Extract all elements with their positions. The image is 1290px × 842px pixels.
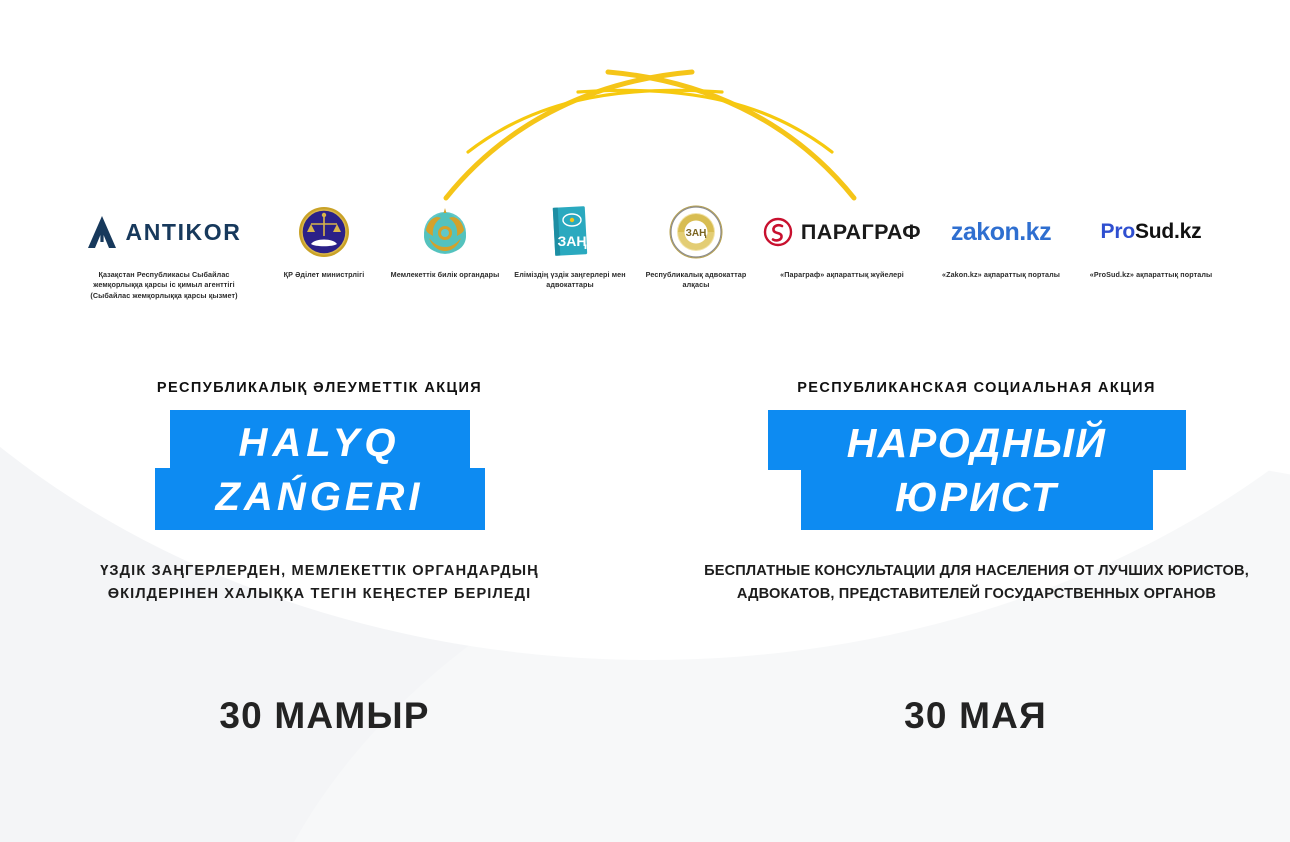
minjust-caption: ҚР Әділет министрлігі: [284, 270, 365, 280]
bar-association-caption: Республикалық адвокаттар алқасы: [634, 270, 758, 291]
prosud-wordmark-pro: Pro: [1101, 220, 1135, 243]
zakon-kz-wordmark-icon: zakon.kz: [951, 206, 1051, 258]
subtitle-kazakh: ҮЗДІК ЗАҢГЕРЛЕРДЕН, МЕМЛЕКЕТТІК ОРГАНДАР…: [100, 560, 539, 605]
svg-text:ЗАҢ: ЗАҢ: [558, 233, 587, 249]
partner-lawyers: ЗАҢ Еліміздің үздік заңгерлері мен адвок…: [506, 206, 634, 291]
prosud-kz-caption: «ProSud.kz» ақпараттық порталы: [1090, 270, 1212, 280]
eyebrow-kazakh: РЕСПУБЛИКАЛЫҚ ӘЛЕУМЕТТІК АКЦИЯ: [157, 380, 482, 396]
svg-text:ЗАҢ: ЗАҢ: [686, 228, 707, 239]
campaign-columns: РЕСПУБЛИКАЛЫҚ ӘЛЕУМЕТТІК АКЦИЯ HALYQ ZAŃ…: [0, 380, 1290, 640]
antikor-triangle-icon: [87, 215, 117, 249]
zakon-kz-caption: «Zakon.kz» ақпараттық порталы: [942, 270, 1060, 280]
gold-arcs-ornament-icon: [440, 58, 860, 208]
zakon-kz-wordmark: zakon.kz: [951, 218, 1051, 247]
state-emblem-svg: [418, 206, 472, 258]
partner-antikor: ANTIKOR Қазақстан Республикасы Сыбайлас …: [64, 206, 264, 301]
antikor-wordmark: ANTIKOR: [126, 219, 242, 246]
date-row: 30 МАМЫР 30 МАЯ: [0, 686, 1290, 746]
date-russian: 30 МАЯ: [904, 695, 1047, 737]
subtitle-russian: БЕСПЛАТНЫЕ КОНСУЛЬТАЦИИ ДЛЯ НАСЕЛЕНИЯ ОТ…: [704, 560, 1249, 605]
justice-emblem-svg: [298, 206, 350, 258]
brandblock-kz-line2: ZAŃGERI: [155, 468, 485, 530]
paragraf-caption: «Параграф» ақпараттық жүйелері: [780, 270, 904, 280]
antikor-a-mark-icon: ANTIKOR: [87, 206, 242, 258]
justice-scales-emblem-icon: [298, 206, 350, 258]
antikor-caption: Қазақстан Республикасы Сыбайлас жемқорлы…: [79, 270, 249, 301]
subtitle-kz-line2: ӨКІЛДЕРІНЕН ХАЛЫҚҚА ТЕГІН КЕҢЕСТЕР БЕРІЛ…: [100, 583, 539, 606]
subtitle-ru-line1: БЕСПЛАТНЫЕ КОНСУЛЬТАЦИИ ДЛЯ НАСЕЛЕНИЯ ОТ…: [704, 560, 1249, 583]
poster-root: ANTIKOR Қазақстан Республикасы Сыбайлас …: [0, 0, 1290, 842]
column-russian: РЕСПУБЛИКАНСКАЯ СОЦИАЛЬНАЯ АКЦИЯ НАРОДНЫ…: [633, 380, 1290, 640]
paragraf-wordmark: ПАРАГРАФ: [801, 220, 921, 245]
brandblock-ru-line1: НАРОДНЫЙ: [768, 410, 1186, 470]
partner-logo-strip: ANTIKOR Қазақстан Республикасы Сыбайлас …: [0, 206, 1290, 321]
partner-bar-association: ЗАҢ Республикалық адвокаттар алқасы: [634, 206, 758, 291]
paragraf-circle-svg: [763, 217, 793, 247]
kazakhstan-state-emblem-icon: [418, 206, 472, 258]
subtitle-kz-line1: ҮЗДІК ЗАҢГЕРЛЕРДЕН, МЕМЛЕКЕТТІК ОРГАНДАР…: [100, 560, 539, 583]
gov-bodies-caption: Мемлекеттік билік органдары: [391, 270, 500, 280]
date-cell-russian: 30 МАЯ: [639, 686, 1290, 746]
brandblock-kz-line1: HALYQ: [170, 410, 470, 470]
prosud-wordmark-sud: Sud.kz: [1135, 220, 1201, 243]
law-book-svg: ЗАҢ: [549, 205, 591, 259]
partner-gov-bodies: Мемлекеттік билік органдары: [384, 206, 506, 280]
partner-minjust: ҚР Әділет министрлігі: [264, 206, 384, 280]
brandblock-ru-line2: ЮРИСТ: [801, 468, 1153, 530]
partner-zakon-kz: zakon.kz «Zakon.kz» ақпараттық порталы: [926, 206, 1076, 280]
partner-paragraf: ПАРАГРАФ «Параграф» ақпараттық жүйелері: [758, 206, 926, 280]
brandblock-russian: НАРОДНЫЙ ЮРИСТ: [768, 410, 1186, 530]
subtitle-ru-line2: АДВОКАТОВ, ПРЕДСТАВИТЕЛЕЙ ГОСУДАРСТВЕННЫ…: [704, 583, 1249, 606]
column-kazakh: РЕСПУБЛИКАЛЫҚ ӘЛЕУМЕТТІК АКЦИЯ HALYQ ZAŃ…: [0, 380, 633, 640]
paragraf-s-circle-icon: ПАРАГРАФ: [763, 206, 921, 258]
zan-bar-association-seal-icon: ЗАҢ: [669, 206, 723, 258]
eyebrow-russian: РЕСПУБЛИКАНСКАЯ СОЦИАЛЬНАЯ АКЦИЯ: [797, 380, 1156, 396]
lawyers-caption: Еліміздің үздік заңгерлері мен адвокатта…: [506, 270, 634, 291]
date-kazakh: 30 МАМЫР: [219, 695, 429, 737]
brandblock-kazakh: HALYQ ZAŃGERI: [155, 410, 485, 530]
date-cell-kazakh: 30 МАМЫР: [0, 686, 639, 746]
prosud-kz-wordmark-icon: ProSud.kz: [1101, 206, 1202, 258]
zan-law-book-icon: ЗАҢ: [549, 206, 591, 258]
partner-prosud-kz: ProSud.kz «ProSud.kz» ақпараттық порталы: [1076, 206, 1226, 280]
bar-seal-svg: ЗАҢ: [669, 205, 723, 259]
